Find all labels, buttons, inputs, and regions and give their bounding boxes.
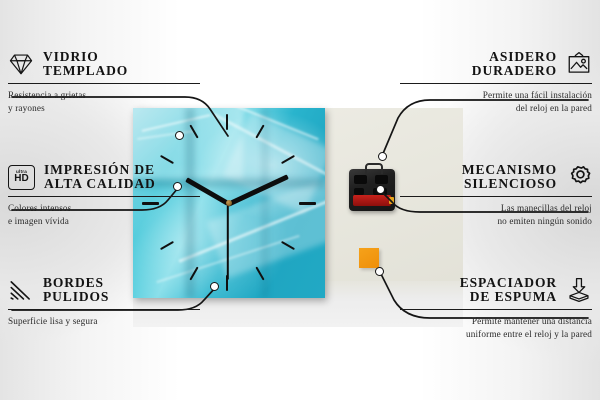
feature-desc-line2: uniforme entre el reloj y la pared — [377, 328, 592, 341]
feature-desc-line2: y rayones — [8, 102, 223, 115]
feature-rule — [400, 83, 592, 84]
feature-desc-line2: no emiten ningún sonido — [377, 215, 592, 228]
feature-title-line1: VIDRIO — [43, 50, 128, 64]
feature-espaciador-de-espuma: ESPACIADOR DE ESPUMA Permite mantener un… — [377, 276, 592, 340]
framed-picture-hanger-icon — [566, 51, 592, 77]
foam-spacer-arrow-icon — [566, 277, 592, 303]
feature-asidero-duradero: ASIDERO DURADERO Permite una fácil insta… — [377, 50, 592, 114]
feature-title-line1: ASIDERO — [472, 50, 557, 64]
feature-vidrio-templado: VIDRIO TEMPLADO Resistencia a grietas y … — [8, 50, 223, 114]
connector-dot-asidero — [378, 152, 387, 161]
feature-desc-line1: Resistencia a grietas — [8, 89, 223, 102]
connector-dot-espaciador — [375, 267, 384, 276]
feature-title-line1: MECANISMO — [462, 163, 557, 177]
ultra-hd-large-text: HD — [14, 174, 28, 185]
feature-desc-line1: Permite una fácil instalación — [377, 89, 592, 102]
feature-impresion-alta-calidad: ultra HD IMPRESIÓN DE ALTA CALIDAD Color… — [8, 163, 223, 227]
feature-title-line1: IMPRESIÓN DE — [44, 163, 156, 177]
feature-title-line2: SILENCIOSO — [462, 177, 557, 191]
feature-title-line2: TEMPLADO — [43, 64, 128, 78]
feature-rule — [8, 83, 200, 84]
feature-rule — [8, 196, 200, 197]
feature-rule — [400, 309, 592, 310]
feature-title-line2: ALTA CALIDAD — [44, 177, 156, 191]
feature-desc-line2: del reloj en la pared — [377, 102, 592, 115]
feature-title-line1: ESPACIADOR — [460, 276, 557, 290]
feature-bordes-pulidos: BORDES PULIDOS Superficie lisa y segura — [8, 276, 223, 328]
feature-rule — [400, 196, 592, 197]
feature-desc-line1: Las manecillas del reloj — [377, 202, 592, 215]
feature-title-line2: DURADERO — [472, 64, 557, 78]
feature-title-line1: BORDES — [43, 276, 109, 290]
feature-desc-line1: Permite mantener una distancia — [377, 315, 592, 328]
polished-edges-icon — [8, 277, 34, 303]
feature-title-line2: DE ESPUMA — [460, 290, 557, 304]
feature-desc-line1: Colores intensos — [8, 202, 223, 215]
feature-desc-line1: Superficie lisa y segura — [8, 315, 223, 328]
ultra-hd-badge-icon: ultra HD — [8, 165, 35, 190]
feature-title-line2: PULIDOS — [43, 290, 109, 304]
feature-mecanismo-silencioso: MECANISMO SILENCIOSO Las manecillas del … — [377, 163, 592, 227]
infographic-canvas: VIDRIO TEMPLADO Resistencia a grietas y … — [0, 0, 600, 400]
feature-rule — [8, 309, 200, 310]
gear-icon — [566, 164, 592, 190]
feature-desc-line2: e imagen vívida — [8, 215, 223, 228]
diamond-icon — [8, 51, 34, 77]
connector-dot-vidrio-templado — [175, 131, 184, 140]
